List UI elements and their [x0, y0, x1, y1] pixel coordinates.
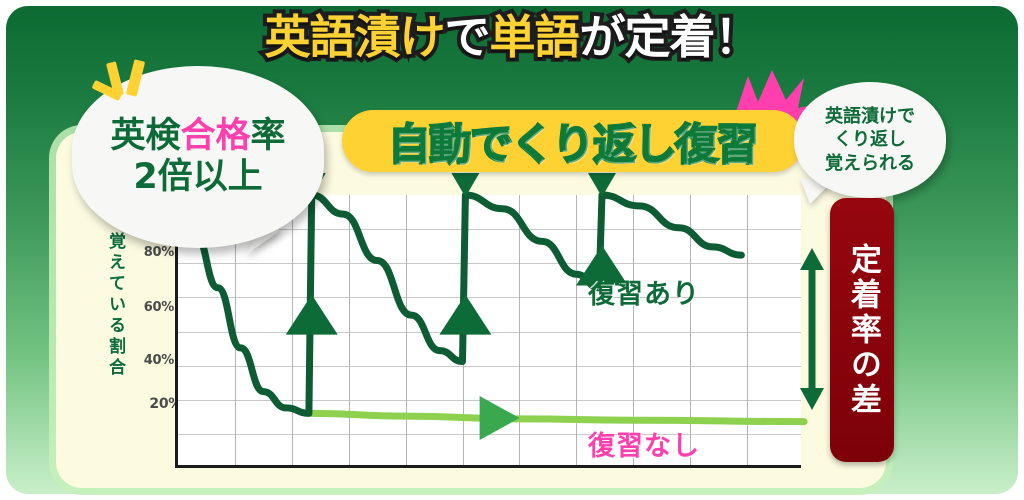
review-reset-arrow-icon [439, 295, 491, 335]
y-tick-40: 40% [122, 353, 174, 368]
bubble-left-line1-c: 率 [251, 116, 286, 156]
review-reset-arrow-icon [286, 295, 338, 335]
auto-review-banner-label: 自動でくり返し復習 [388, 111, 757, 172]
retention-gap-badge: 定着率の差 [830, 198, 894, 462]
series-label-review: 復習あり [588, 272, 700, 311]
retention-gap-badge-label: 定着率の差 [843, 243, 881, 418]
bubble-left-line1-b: 合格 [180, 116, 250, 156]
title-part-1: 英語漬け [265, 10, 445, 64]
title-part-4: が定着！ [580, 10, 760, 64]
bubble-right-line1: 英語漬けで [825, 105, 915, 128]
title-part-3: 単語 [490, 10, 580, 64]
y-tick-80: 80% [122, 245, 174, 260]
retention-gap-arrow-icon [798, 248, 826, 410]
bubble-left-line1: 英検合格率 [110, 116, 285, 157]
y-axis-title: 覚えている割合 [98, 232, 124, 379]
auto-review-banner[interactable]: 自動でくり返し復習 [342, 110, 804, 172]
title-part-2: で [445, 10, 490, 64]
infographic-stage: 英語漬けで単語が定着！ 覚えている割合 80% 60% 40% 20% 復習あり… [0, 0, 1024, 500]
bubble-left-line1-a: 英検 [110, 116, 180, 156]
bubble-right-line2: くり返し [834, 128, 906, 151]
series-line-no-review [312, 413, 804, 421]
bubble-right-line3: 覚えられる [825, 152, 915, 175]
bubble-immersion-repeat: 英語漬けで くり返し 覚えられる [794, 82, 946, 198]
no-review-arrow-icon [480, 396, 520, 440]
page-title: 英語漬けで単語が定着！ [0, 14, 1024, 60]
y-tick-60: 60% [122, 300, 174, 315]
bubble-left-line2: 2倍以上 [133, 157, 262, 198]
series-label-no-review: 復習なし [588, 424, 700, 463]
